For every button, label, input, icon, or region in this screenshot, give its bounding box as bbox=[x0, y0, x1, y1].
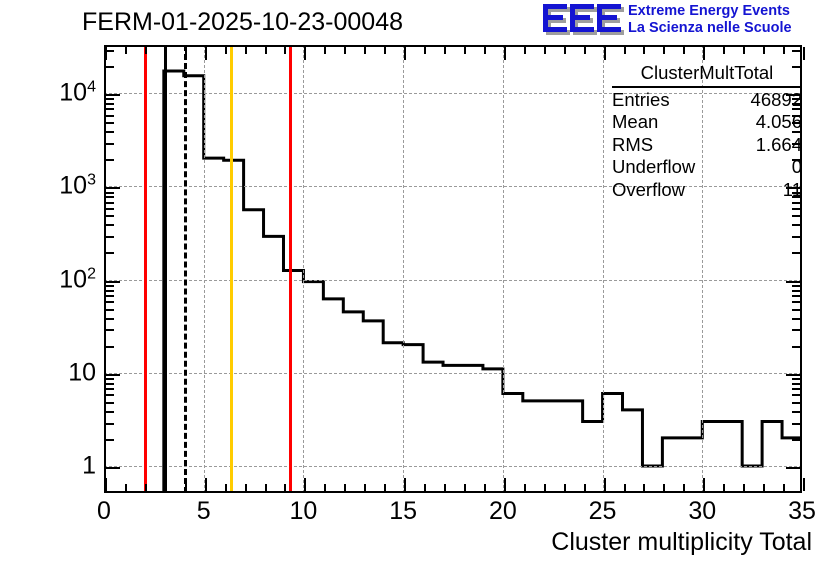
x-tick-13 bbox=[364, 484, 366, 491]
x-tick-29 bbox=[683, 484, 685, 491]
stats-key: Underflow bbox=[612, 156, 695, 179]
stats-value: 11 bbox=[783, 179, 802, 202]
stats-box-title: ClusterMultTotal bbox=[612, 62, 802, 88]
x-tick-top-9 bbox=[284, 47, 286, 54]
x-tick-17 bbox=[444, 484, 446, 491]
x-tick-top-24 bbox=[584, 47, 586, 54]
x-tick-3 bbox=[165, 484, 167, 491]
y-tick-right-30000 bbox=[792, 50, 800, 52]
y-tick-right-1 bbox=[786, 467, 800, 469]
y-tick-9000 bbox=[106, 98, 114, 100]
x-axis-title: Cluster multiplicity Total bbox=[551, 528, 812, 557]
x-tick-top-26 bbox=[624, 47, 626, 54]
stats-row: RMS1.664 bbox=[612, 134, 802, 157]
stats-value: 1.664 bbox=[756, 134, 802, 157]
y-tick-right-30 bbox=[792, 329, 800, 331]
x-tick-6 bbox=[225, 484, 227, 491]
x-tick-4 bbox=[185, 484, 187, 491]
x-tick-top-5 bbox=[205, 47, 207, 60]
x-tick-top-4 bbox=[185, 47, 187, 54]
y-tick-5 bbox=[106, 402, 114, 404]
y-tick-2 bbox=[106, 439, 114, 441]
x-tick-top-13 bbox=[364, 47, 366, 54]
x-tick-label-5: 5 bbox=[197, 497, 211, 526]
x-tick-top-23 bbox=[564, 47, 566, 54]
stats-value: 0 bbox=[792, 156, 802, 179]
x-tick-top-34 bbox=[783, 47, 785, 54]
y-tick-5000 bbox=[106, 122, 114, 124]
x-tick-top-8 bbox=[265, 47, 267, 54]
x-tick-top-35 bbox=[803, 47, 805, 60]
x-tick-top-3 bbox=[165, 47, 167, 54]
y-tick-300 bbox=[106, 236, 114, 238]
x-tick-12 bbox=[344, 484, 346, 491]
stats-key: Mean bbox=[612, 111, 658, 134]
x-tick-label-0: 0 bbox=[97, 497, 111, 526]
x-tick-14 bbox=[384, 484, 386, 491]
x-tick-23 bbox=[564, 484, 566, 491]
eee-logo-line2: La Scienza nelle Scuole bbox=[628, 20, 792, 37]
x-tick-top-20 bbox=[504, 47, 506, 60]
y-tick-7000 bbox=[106, 108, 114, 110]
y-tick-10 bbox=[106, 374, 120, 376]
y-tick-400 bbox=[106, 224, 114, 226]
y-tick-right-80 bbox=[792, 290, 800, 292]
stats-key: Overflow bbox=[612, 179, 685, 202]
x-tick-label-25: 25 bbox=[589, 497, 617, 526]
stats-box-rows: Entries46892Mean4.056RMS1.664Underflow0O… bbox=[612, 89, 802, 202]
x-tick-18 bbox=[464, 484, 466, 491]
y-tick-label-10e2: 102 bbox=[0, 265, 96, 294]
y-tick-800 bbox=[106, 196, 114, 198]
x-tick-top-18 bbox=[464, 47, 466, 54]
x-tick-top-21 bbox=[524, 47, 526, 54]
y-tick-20000 bbox=[106, 66, 114, 68]
y-tick-right-60 bbox=[792, 301, 800, 303]
x-tick-20 bbox=[504, 478, 506, 491]
x-tick-top-16 bbox=[424, 47, 426, 54]
stats-row: Underflow0 bbox=[612, 156, 802, 179]
stats-key: RMS bbox=[612, 134, 653, 157]
x-tick-top-28 bbox=[663, 47, 665, 54]
y-tick-1000 bbox=[106, 187, 120, 189]
y-tick-label-1: 1 bbox=[0, 452, 96, 481]
y-tick-6000 bbox=[106, 115, 114, 117]
y-tick-right-9 bbox=[792, 378, 800, 380]
y-tick-200 bbox=[106, 252, 114, 254]
x-tick-5 bbox=[205, 478, 207, 491]
y-tick-20 bbox=[106, 346, 114, 348]
x-tick-11 bbox=[324, 484, 326, 491]
x-tick-32 bbox=[743, 484, 745, 491]
y-tick-80 bbox=[106, 290, 114, 292]
y-tick-90 bbox=[106, 285, 114, 287]
x-tick-35 bbox=[803, 478, 805, 491]
x-tick-top-19 bbox=[484, 47, 486, 54]
y-tick-right-70 bbox=[792, 295, 800, 297]
x-tick-top-6 bbox=[225, 47, 227, 54]
y-tick-right-500 bbox=[792, 215, 800, 217]
y-tick-right-600 bbox=[792, 208, 800, 210]
x-tick-label-10: 10 bbox=[290, 497, 318, 526]
y-tick-4 bbox=[106, 411, 114, 413]
x-tick-34 bbox=[783, 484, 785, 491]
x-tick-24 bbox=[584, 484, 586, 491]
y-tick-right-8 bbox=[792, 383, 800, 385]
y-tick-900 bbox=[106, 192, 114, 194]
x-tick-top-25 bbox=[604, 47, 606, 60]
eee-logo-text: Extreme Energy Events La Scienza nelle S… bbox=[628, 3, 792, 37]
eee-logo-line1: Extreme Energy Events bbox=[628, 3, 792, 20]
x-tick-top-10 bbox=[304, 47, 306, 60]
y-tick-right-90 bbox=[792, 285, 800, 287]
x-tick-top-1 bbox=[125, 47, 127, 54]
x-tick-26 bbox=[624, 484, 626, 491]
stats-key: Entries bbox=[612, 89, 670, 112]
y-tick-1 bbox=[106, 467, 120, 469]
x-tick-top-17 bbox=[444, 47, 446, 54]
y-tick-right-5 bbox=[792, 402, 800, 404]
y-tick-8000 bbox=[106, 103, 114, 105]
x-tick-7 bbox=[245, 484, 247, 491]
y-tick-right-2 bbox=[792, 439, 800, 441]
y-tick-right-100 bbox=[786, 281, 800, 283]
y-tick-label-10e3: 103 bbox=[0, 172, 96, 201]
y-tick-4000 bbox=[106, 131, 114, 133]
x-tick-top-22 bbox=[544, 47, 546, 54]
y-tick-10000 bbox=[106, 94, 120, 96]
x-tick-top-32 bbox=[743, 47, 745, 54]
stats-row: Overflow11 bbox=[612, 179, 802, 202]
y-tick-3 bbox=[106, 423, 114, 425]
y-tick-right-300 bbox=[792, 236, 800, 238]
y-tick-right-20 bbox=[792, 346, 800, 348]
y-tick-100 bbox=[106, 281, 120, 283]
y-tick-600 bbox=[106, 208, 114, 210]
x-tick-label-30: 30 bbox=[688, 497, 716, 526]
x-tick-21 bbox=[524, 484, 526, 491]
y-tick-right-6 bbox=[792, 394, 800, 396]
y-tick-70 bbox=[106, 295, 114, 297]
x-tick-top-33 bbox=[763, 47, 765, 54]
y-tick-6 bbox=[106, 394, 114, 396]
x-tick-top-12 bbox=[344, 47, 346, 54]
x-tick-2 bbox=[145, 484, 147, 491]
y-tick-right-400 bbox=[792, 224, 800, 226]
y-tick-50 bbox=[106, 309, 114, 311]
y-tick-30 bbox=[106, 329, 114, 331]
y-tick-7 bbox=[106, 388, 114, 390]
x-tick-27 bbox=[643, 484, 645, 491]
y-tick-right-7 bbox=[792, 388, 800, 390]
x-tick-15 bbox=[404, 478, 406, 491]
x-tick-10 bbox=[304, 478, 306, 491]
x-tick-top-2 bbox=[145, 47, 147, 54]
y-tick-label-10: 10 bbox=[0, 358, 96, 387]
y-tick-right-4 bbox=[792, 411, 800, 413]
x-tick-top-15 bbox=[404, 47, 406, 60]
y-tick-9 bbox=[106, 378, 114, 380]
y-tick-right-10 bbox=[786, 374, 800, 376]
y-tick-500 bbox=[106, 215, 114, 217]
x-tick-top-29 bbox=[683, 47, 685, 54]
x-tick-19 bbox=[484, 484, 486, 491]
y-tick-40 bbox=[106, 318, 114, 320]
y-tick-3000 bbox=[106, 143, 114, 145]
x-tick-9 bbox=[284, 484, 286, 491]
x-tick-16 bbox=[424, 484, 426, 491]
x-tick-label-35: 35 bbox=[788, 497, 816, 526]
y-tick-right-200 bbox=[792, 252, 800, 254]
x-tick-8 bbox=[265, 484, 267, 491]
y-tick-700 bbox=[106, 202, 114, 204]
x-tick-label-15: 15 bbox=[389, 497, 417, 526]
x-tick-top-14 bbox=[384, 47, 386, 54]
y-tick-label-10e4: 104 bbox=[0, 78, 96, 107]
stats-row: Mean4.056 bbox=[612, 111, 802, 134]
x-tick-28 bbox=[663, 484, 665, 491]
page-title: FERM-01-2025-10-23-00048 bbox=[82, 8, 403, 37]
x-tick-25 bbox=[604, 478, 606, 491]
stats-row: Entries46892 bbox=[612, 89, 802, 112]
y-tick-30000 bbox=[106, 50, 114, 52]
y-tick-right-50 bbox=[792, 309, 800, 311]
stats-value: 4.056 bbox=[756, 111, 802, 134]
x-tick-top-7 bbox=[245, 47, 247, 54]
x-tick-top-27 bbox=[643, 47, 645, 54]
x-tick-label-20: 20 bbox=[489, 497, 517, 526]
x-tick-30 bbox=[703, 478, 705, 491]
root-canvas: FERM-01-2025-10-23-00048 Extreme Ene bbox=[0, 0, 836, 572]
y-tick-8 bbox=[106, 383, 114, 385]
y-tick-60 bbox=[106, 301, 114, 303]
stats-box: ClusterMultTotal Entries46892Mean4.056RM… bbox=[612, 62, 802, 201]
x-tick-22 bbox=[544, 484, 546, 491]
x-tick-1 bbox=[125, 484, 127, 491]
x-tick-31 bbox=[723, 484, 725, 491]
x-tick-top-11 bbox=[324, 47, 326, 54]
x-tick-33 bbox=[763, 484, 765, 491]
eee-logo: Extreme Energy Events La Scienza nelle S… bbox=[540, 2, 832, 42]
x-tick-0 bbox=[105, 478, 107, 491]
y-tick-right-40 bbox=[792, 318, 800, 320]
y-tick-2000 bbox=[106, 159, 114, 161]
y-tick-right-700 bbox=[792, 202, 800, 204]
stats-value: 46892 bbox=[751, 89, 802, 112]
x-tick-top-30 bbox=[703, 47, 705, 60]
eee-logo-mark-icon bbox=[540, 4, 625, 38]
y-tick-right-3 bbox=[792, 423, 800, 425]
x-tick-top-31 bbox=[723, 47, 725, 54]
